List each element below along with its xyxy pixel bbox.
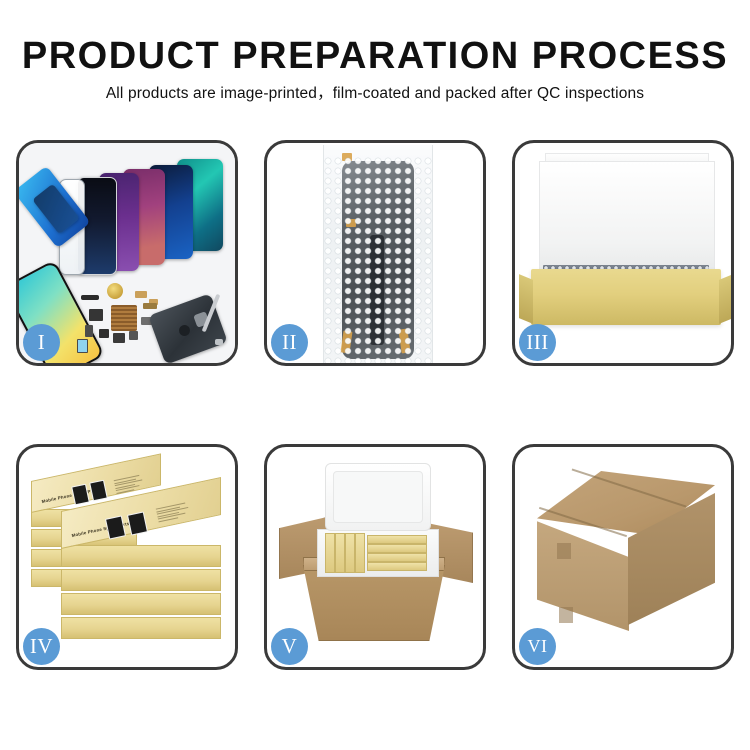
step-badge-4: IV bbox=[23, 628, 60, 665]
step-badge-2: II bbox=[271, 324, 308, 361]
step-badge-6: VI bbox=[519, 628, 556, 665]
step-badge-3: III bbox=[519, 324, 556, 361]
process-step-panel-6: VI bbox=[512, 444, 734, 670]
page-title: PRODUCT PREPARATION PROCESS bbox=[0, 34, 750, 78]
step-badge-5: V bbox=[271, 628, 308, 665]
page-subtitle: All products are image-printed，film-coat… bbox=[0, 84, 750, 104]
header: PRODUCT PREPARATION PROCESS All products… bbox=[0, 34, 750, 104]
step-badge-1: I bbox=[23, 324, 60, 361]
process-step-panel-4: Mobile Phone Spare Parts Mob bbox=[16, 444, 238, 670]
process-step-panel-5: V bbox=[264, 444, 486, 670]
process-step-panel-1: I bbox=[16, 140, 238, 366]
process-step-panel-3: III bbox=[512, 140, 734, 366]
product-preparation-process-page: PRODUCT PREPARATION PROCESS All products… bbox=[0, 0, 750, 750]
process-steps-grid: I II bbox=[16, 140, 734, 670]
process-step-panel-2: II bbox=[264, 140, 486, 366]
